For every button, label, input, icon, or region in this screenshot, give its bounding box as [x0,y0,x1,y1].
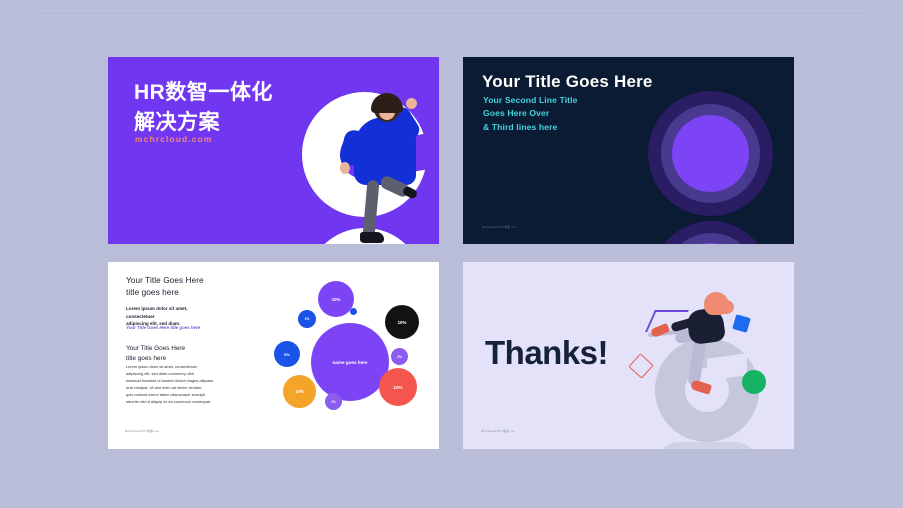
woman-left-hand [340,162,350,174]
slide-3-heading-1: Your Title Goes Here title goes here [126,275,204,300]
woman-hair [371,93,403,113]
slide-3-body-2: Lorem ipsum dolor sit amet, consectetuer… [126,364,262,406]
bubble-10-: 10% [283,375,316,408]
bubble-2-: 2% [298,310,316,328]
slide-2-section-title[interactable]: Your Title Goes Here Your Second Line Ti… [463,57,794,244]
slide-3-heading-2: Your Title Goes Here title goes here [126,344,185,363]
slide-1-cover[interactable]: HR数智一体化 解决方案 mchrcloud.com [108,57,439,244]
green-circle-icon [742,370,766,394]
slide-3-link[interactable]: Your Title Goes Here title goes here [126,325,200,330]
slide-deck-canvas: HR数智一体化 解决方案 mchrcloud.com [0,0,903,508]
slide-2-subtitle: Your Second Line Title Goes Here Over & … [483,94,578,134]
blue-square-icon [732,314,751,333]
slide-3-footer: MchrCloud.PPT模板.net [125,429,159,433]
bubble-2-: 2% [325,393,342,410]
bubble-name-goes-here: name goes here [311,323,389,401]
bubble-10-: 10% [379,368,417,406]
bubble-chart: name goes here10%10%10%10%5%2%2%2% [273,275,433,435]
person-hair-bun [718,300,734,314]
slide-1-title: HR数智一体化 解决方案 [134,78,273,138]
letter-c-lower-shape [657,442,757,449]
bubble-10-: 10% [318,281,354,317]
slide-2-footer: MchrCloud.PPT模板.net [482,225,516,229]
red-diamond-outline-icon [628,353,653,378]
slide-1-url: mchrcloud.com [135,134,213,144]
slide-4-title: Thanks! [485,334,608,372]
bubble-dot [350,308,357,315]
slide-4-thanks[interactable]: Thanks! MchrCloud.PPT模板.net [463,262,794,449]
concentric-rings-graphic [648,91,783,244]
bubble-10-: 10% [385,305,419,339]
slide-3-bubble-chart[interactable]: Your Title Goes Here title goes here Lor… [108,262,439,449]
slide-2-title: Your Title Goes Here [482,72,653,92]
page-outline [35,10,870,19]
bubble-2-: 2% [391,348,408,365]
woman-right-hand [406,98,417,109]
woman-left-shoe [360,232,384,243]
bubble-5-: 5% [274,341,300,367]
letter-c-graphic [302,92,439,244]
thanks-illustration [633,290,785,449]
slide-4-footer: MchrCloud.PPT模板.net [481,429,515,433]
ring-inner [672,115,749,192]
